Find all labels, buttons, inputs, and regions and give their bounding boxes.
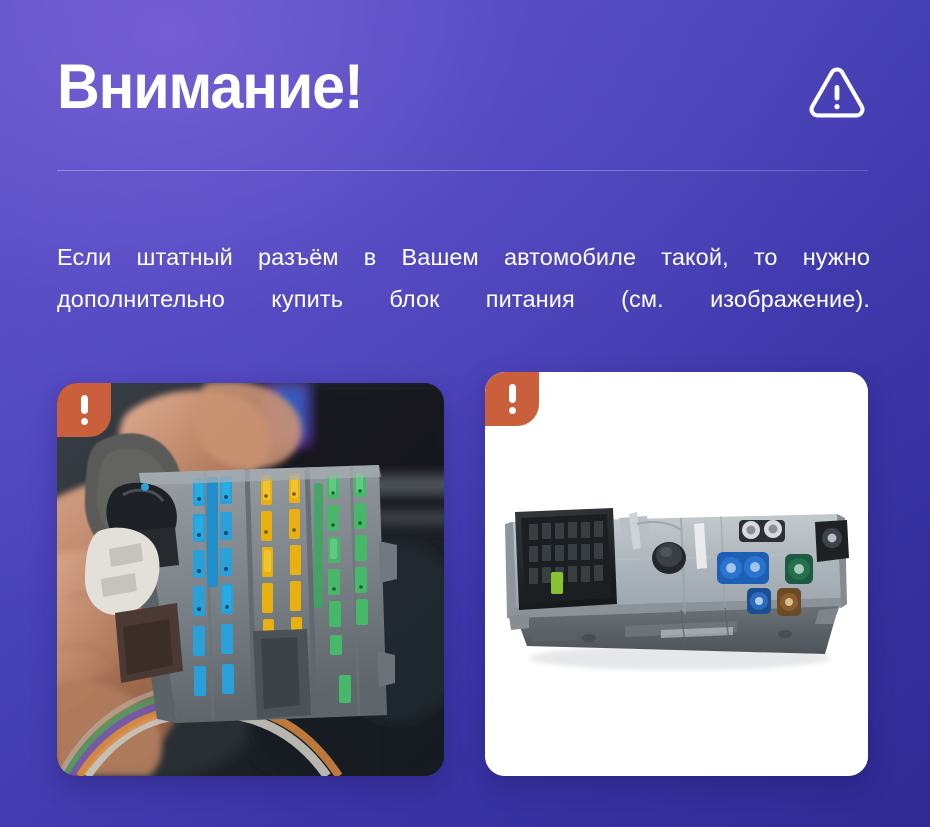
header-divider (57, 170, 868, 171)
header: Внимание! (57, 52, 868, 136)
connector-photo-image (57, 383, 444, 776)
exclamation-badge-icon (57, 383, 111, 437)
badge-bang (81, 395, 88, 414)
body-copy: Если штатный разъём в Вашем автомобиле т… (57, 236, 870, 362)
power-supply-photo-image (485, 372, 868, 776)
card-connector-photo[interactable] (57, 383, 444, 776)
badge-dot (509, 407, 516, 414)
badge-bang (509, 384, 516, 403)
badge-dot (81, 418, 88, 425)
body-paragraph: Если штатный разъём в Вашем автомобиле т… (57, 236, 870, 362)
card-power-supply-photo[interactable] (485, 372, 868, 776)
page-title: Внимание! (57, 52, 819, 122)
exclamation-badge-icon (485, 372, 539, 426)
warning-slide: Внимание! Если штатный разъём в Вашем ав… (0, 0, 930, 827)
image-card-group (57, 372, 868, 778)
warning-triangle-icon (806, 62, 868, 124)
